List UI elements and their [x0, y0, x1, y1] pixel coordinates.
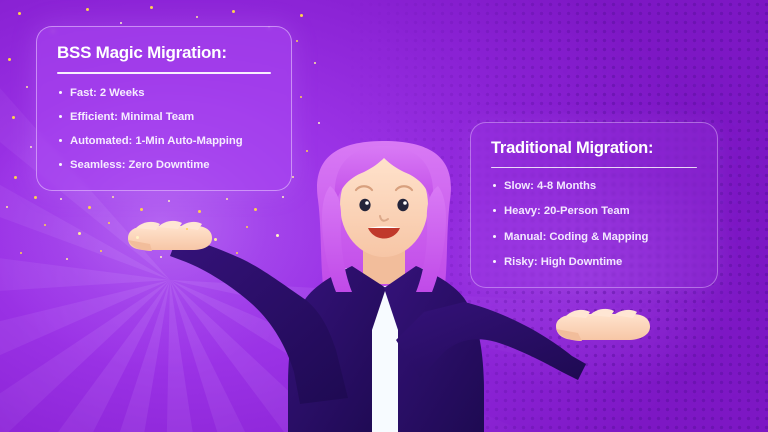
list-item: Seamless: Zero Downtime [57, 158, 271, 172]
left-card-bullet-list: Fast: 2 Weeks Efficient: Minimal Team Au… [57, 86, 271, 172]
slide-canvas: BSS Magic Migration: Fast: 2 Weeks Effic… [0, 0, 768, 432]
list-item: Automated: 1-Min Auto-Mapping [57, 134, 271, 148]
right-card-bullet-list: Slow: 4-8 Months Heavy: 20-Person Team M… [491, 179, 697, 268]
list-item: Heavy: 20-Person Team [491, 204, 697, 218]
bss-magic-migration-card: BSS Magic Migration: Fast: 2 Weeks Effic… [36, 26, 292, 191]
right-card-title: Traditional Migration: [491, 139, 697, 159]
right-card-divider [491, 167, 697, 169]
list-item: Manual: Coding & Mapping [491, 230, 697, 244]
list-item: Risky: High Downtime [491, 255, 697, 269]
traditional-migration-card: Traditional Migration: Slow: 4-8 Months … [470, 122, 718, 288]
list-item: Efficient: Minimal Team [57, 110, 271, 124]
list-item: Slow: 4-8 Months [491, 179, 697, 193]
list-item: Fast: 2 Weeks [57, 86, 271, 100]
left-card-title: BSS Magic Migration: [57, 43, 271, 63]
left-card-divider [57, 72, 271, 74]
